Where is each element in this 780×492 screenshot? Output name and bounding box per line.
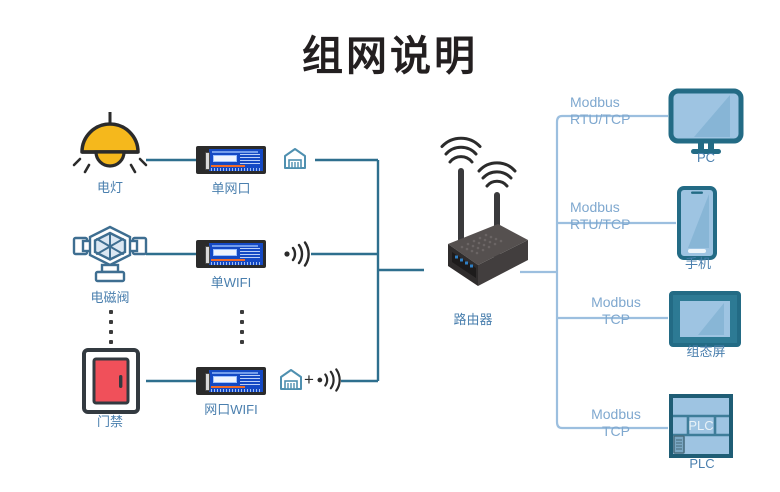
- protocol-label-phone: Modbus RTU/TCP: [570, 199, 666, 233]
- plc-icon: PLC: [668, 394, 734, 460]
- desktop-monitor-icon: [668, 88, 744, 156]
- client-label-phone: 手机: [650, 256, 746, 271]
- client-label-plc: PLC: [654, 456, 750, 471]
- wifi-signal-icon: [283, 242, 311, 266]
- protocol-plc-line2: TCP: [566, 423, 666, 440]
- wireless-router-icon: [412, 140, 534, 302]
- solenoid-valve-icon: [72, 222, 148, 284]
- wifi-signal-icon-combo: [315, 369, 343, 391]
- gateway-label-ethernet-wifi: 网口WIFI: [186, 402, 276, 417]
- ethernet-port-icon: [282, 147, 308, 171]
- protocol-label-hmi: Modbus TCP: [566, 294, 666, 328]
- diagram-canvas: 组网说明: [0, 0, 780, 492]
- gateway-module-ethernet-wifi[interactable]: [196, 367, 266, 395]
- protocol-label-plc: Modbus TCP: [566, 406, 666, 440]
- protocol-phone-line2: RTU/TCP: [570, 216, 666, 233]
- door-access-icon: [82, 348, 140, 414]
- field-device-label-lamp: 电灯: [60, 180, 160, 195]
- field-device-label-valve: 电磁阀: [60, 290, 160, 305]
- ellipsis-gateways: [240, 310, 245, 350]
- right-vertical-trunk: [557, 116, 562, 428]
- ethernet-port-icon-combo: [278, 368, 304, 392]
- gateway-module-single-wifi[interactable]: [196, 240, 266, 268]
- client-label-hmi: 组态屏: [654, 344, 758, 359]
- protocol-pc-line2: RTU/TCP: [570, 111, 666, 128]
- protocol-phone-line1: Modbus: [570, 199, 620, 215]
- gateway-label-single-ethernet: 单网口: [191, 181, 271, 196]
- hmi-screen-icon: [668, 290, 742, 348]
- smartphone-icon: [676, 186, 718, 260]
- gateway-module-single-ethernet[interactable]: [196, 146, 266, 174]
- field-device-label-door: 门禁: [60, 414, 160, 429]
- plc-body-text: PLC: [688, 418, 713, 433]
- protocol-label-pc: Modbus RTU/TCP: [570, 94, 666, 128]
- ellipsis-field-devices: [109, 310, 114, 350]
- protocol-plc-line1: Modbus: [591, 406, 641, 422]
- client-label-pc: PC: [658, 150, 754, 165]
- router-label: 路由器: [423, 312, 523, 327]
- protocol-hmi-line1: Modbus: [591, 294, 641, 310]
- gateway-label-single-wifi: 单WIFI: [191, 275, 271, 290]
- protocol-hmi-line2: TCP: [566, 311, 666, 328]
- protocol-pc-line1: Modbus: [570, 94, 620, 110]
- ethernet-plus-wifi-icon-plus: +: [304, 370, 314, 390]
- lamp-icon: [72, 112, 148, 174]
